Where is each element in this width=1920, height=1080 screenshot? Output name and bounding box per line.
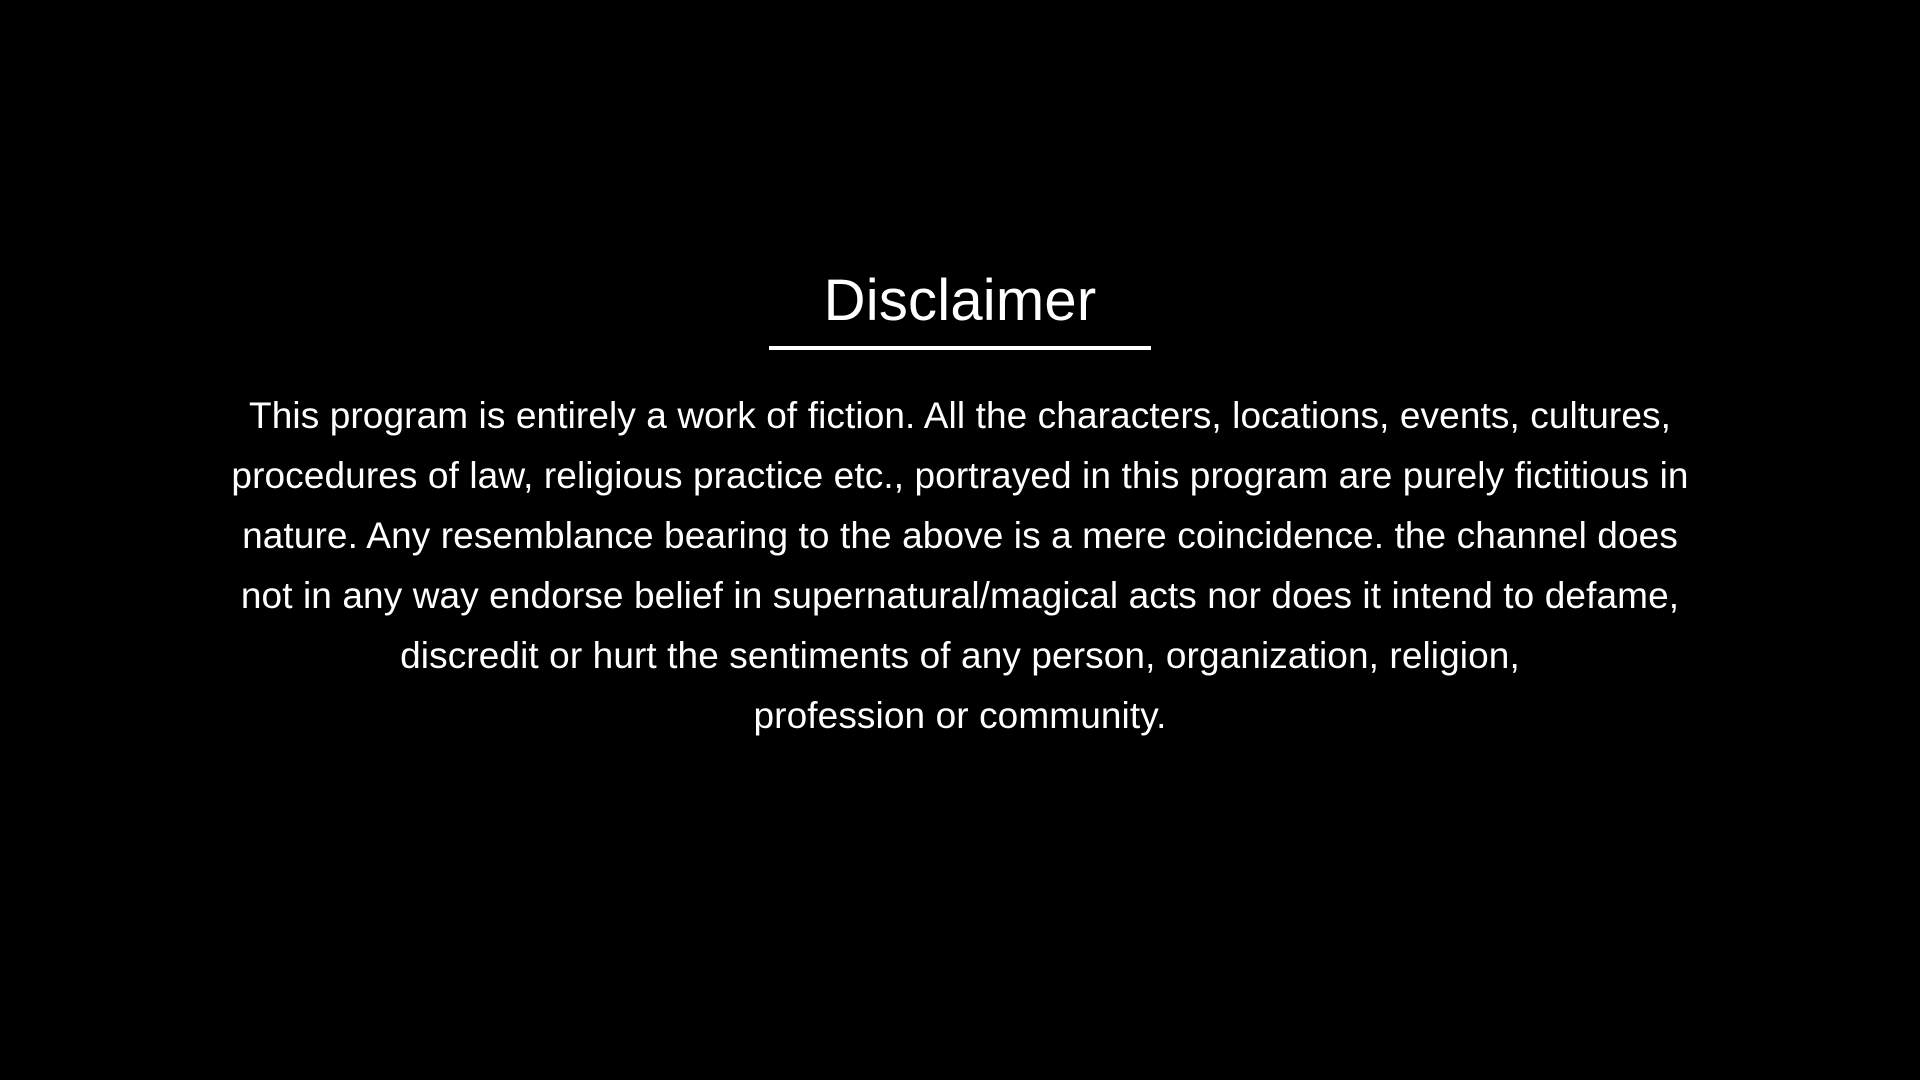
disclaimer-line: not in any way endorse belief in superna…	[241, 566, 1679, 626]
disclaimer-body: This program is entirely a work of ficti…	[130, 386, 1790, 746]
disclaimer-line: profession or community.	[754, 686, 1167, 746]
disclaimer-line: nature. Any resemblance bearing to the a…	[242, 506, 1678, 566]
disclaimer-line: This program is entirely a work of ficti…	[249, 386, 1671, 446]
disclaimer-line: discredit or hurt the sentiments of any …	[400, 626, 1520, 686]
disclaimer-slide: Disclaimer This program is entirely a wo…	[0, 0, 1920, 1080]
title-block: Disclaimer	[0, 268, 1920, 350]
page-title: Disclaimer	[824, 268, 1097, 334]
title-underline-divider	[769, 346, 1151, 350]
disclaimer-line: procedures of law, religious practice et…	[231, 446, 1688, 506]
